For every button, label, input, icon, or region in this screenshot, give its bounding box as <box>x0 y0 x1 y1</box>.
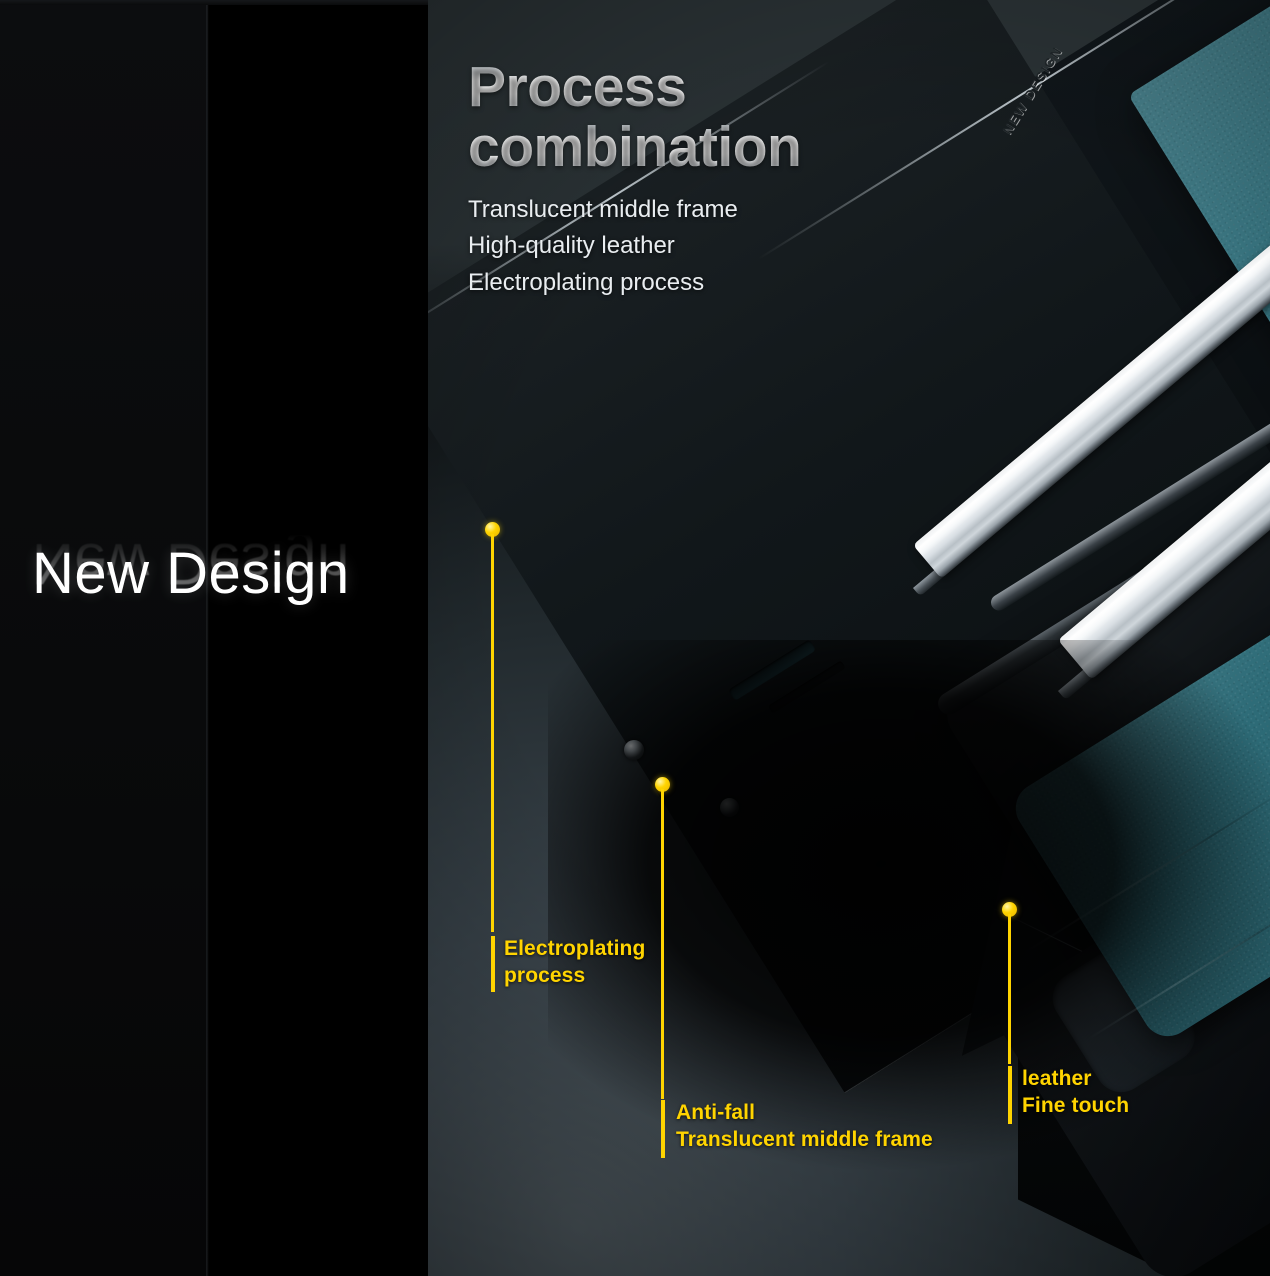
feature-item-2: High-quality leather <box>468 228 801 264</box>
product-marketing-banner: New Design New Design <box>0 0 1270 1276</box>
hero-title-reflection: New Design <box>32 530 350 597</box>
callout-leader-electroplating <box>491 534 494 932</box>
heading-line-1: Process <box>468 58 801 118</box>
header-text-block: Process combination Translucent middle f… <box>468 58 801 301</box>
feature-list: Translucent middle frame High-quality le… <box>468 192 801 301</box>
callout-electroplating-line1: Electroplating <box>504 936 645 963</box>
callout-antifall-line2: Translucent middle frame <box>676 1127 933 1154</box>
heading-line-2: combination <box>468 118 801 178</box>
callout-tick-antifall <box>661 1100 665 1158</box>
callout-electroplating-line2: process <box>504 963 645 990</box>
callout-tick-electroplating <box>491 936 495 992</box>
callout-label-leather: leather Fine touch <box>1022 1066 1129 1120</box>
hero-brand-block: New Design New Design <box>32 540 350 664</box>
callout-leader-leather <box>1008 914 1011 1064</box>
callout-label-electroplating: Electroplating process <box>504 936 645 990</box>
callout-leader-antifall <box>661 789 664 1099</box>
callout-tick-leather <box>1008 1066 1012 1124</box>
callout-leather-line2: Fine touch <box>1022 1093 1129 1120</box>
top-edge-strip <box>0 0 428 5</box>
callout-antifall-line1: Anti-fall <box>676 1100 933 1127</box>
feature-item-1: Translucent middle frame <box>468 192 801 228</box>
callout-leather-line1: leather <box>1022 1066 1129 1093</box>
callout-label-antifall: Anti-fall Translucent middle frame <box>676 1100 933 1154</box>
feature-item-3: Electroplating process <box>468 265 801 301</box>
